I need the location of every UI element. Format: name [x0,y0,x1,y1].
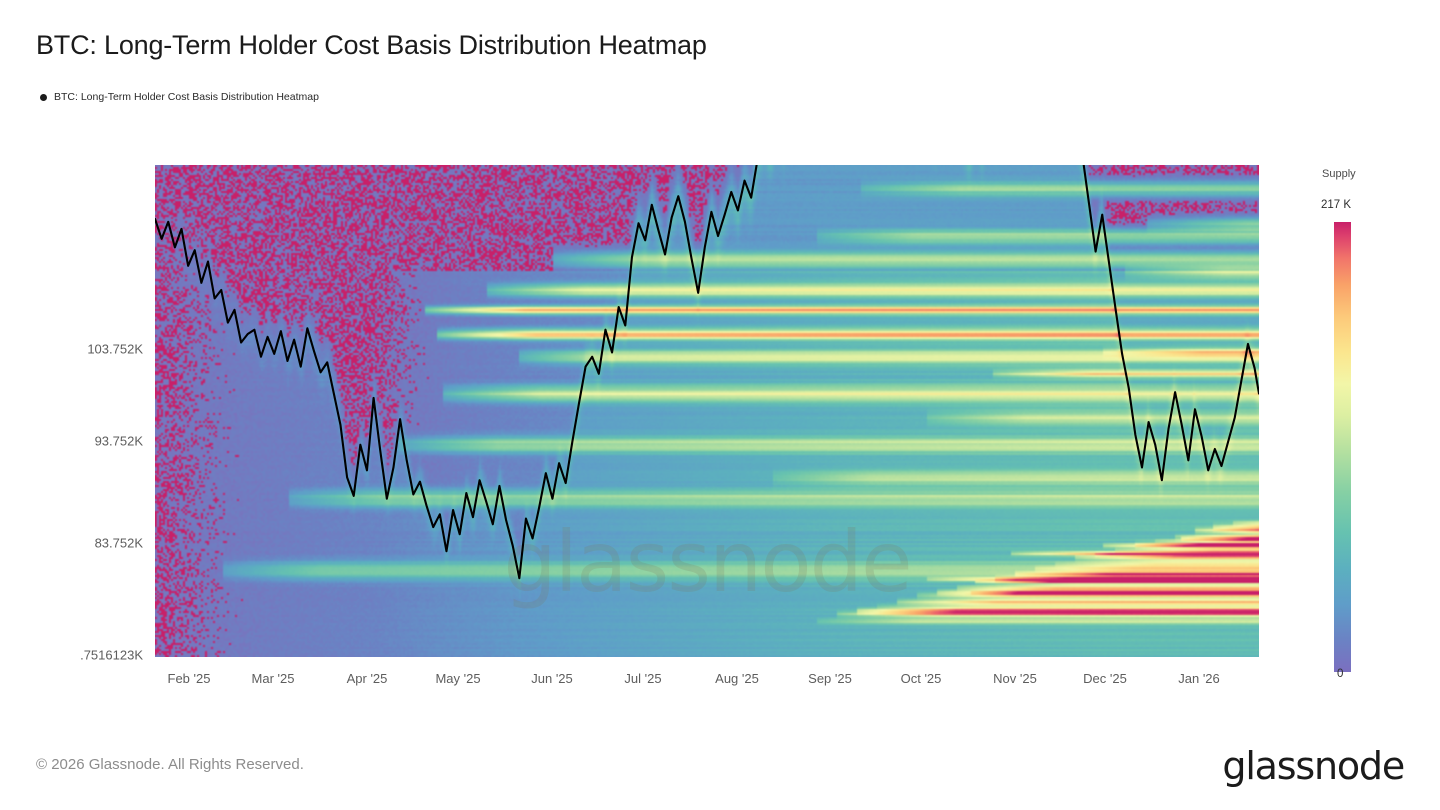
x-axis-tick-11: Jan '26 [1178,671,1220,686]
legend-item-label: BTC: Long-Term Holder Cost Basis Distrib… [54,91,319,103]
x-axis-tick-6: Aug '25 [715,671,759,686]
btc-price-line [155,165,1259,578]
page-title: BTC: Long-Term Holder Cost Basis Distrib… [36,30,707,61]
heatmap-plot-area[interactable]: glassnode [155,165,1259,657]
y-axis-tick-3: .7516123K [80,648,143,663]
colorbar-min-label: 0 [1337,668,1343,680]
price-line-overlay [155,165,1259,657]
colorbar-gradient[interactable] [1334,222,1351,672]
x-axis-tick-3: May '25 [435,671,480,686]
chart-legend[interactable]: BTC: Long-Term Holder Cost Basis Distrib… [40,91,319,103]
y-axis-tick-2: 83.752K [95,536,143,551]
x-axis-tick-4: Jun '25 [531,671,573,686]
x-axis-tick-9: Nov '25 [993,671,1037,686]
colorbar-title: Supply [1322,168,1356,180]
chart-page: BTC: Long-Term Holder Cost Basis Distrib… [0,0,1440,810]
legend-marker-icon [40,94,47,101]
x-axis-tick-10: Dec '25 [1083,671,1127,686]
footer-brand-logo: glassnode [1222,744,1404,788]
y-axis-tick-1: 93.752K [95,434,143,449]
footer-copyright: © 2026 Glassnode. All Rights Reserved. [36,756,304,773]
x-axis-tick-1: Mar '25 [252,671,295,686]
x-axis-tick-7: Sep '25 [808,671,852,686]
x-axis-tick-5: Jul '25 [624,671,661,686]
x-axis-tick-0: Feb '25 [168,671,211,686]
y-axis-tick-0: 103.752K [87,342,143,357]
colorbar-max-label: 217 K [1321,199,1351,211]
x-axis-tick-2: Apr '25 [347,671,388,686]
x-axis-tick-8: Oct '25 [901,671,942,686]
